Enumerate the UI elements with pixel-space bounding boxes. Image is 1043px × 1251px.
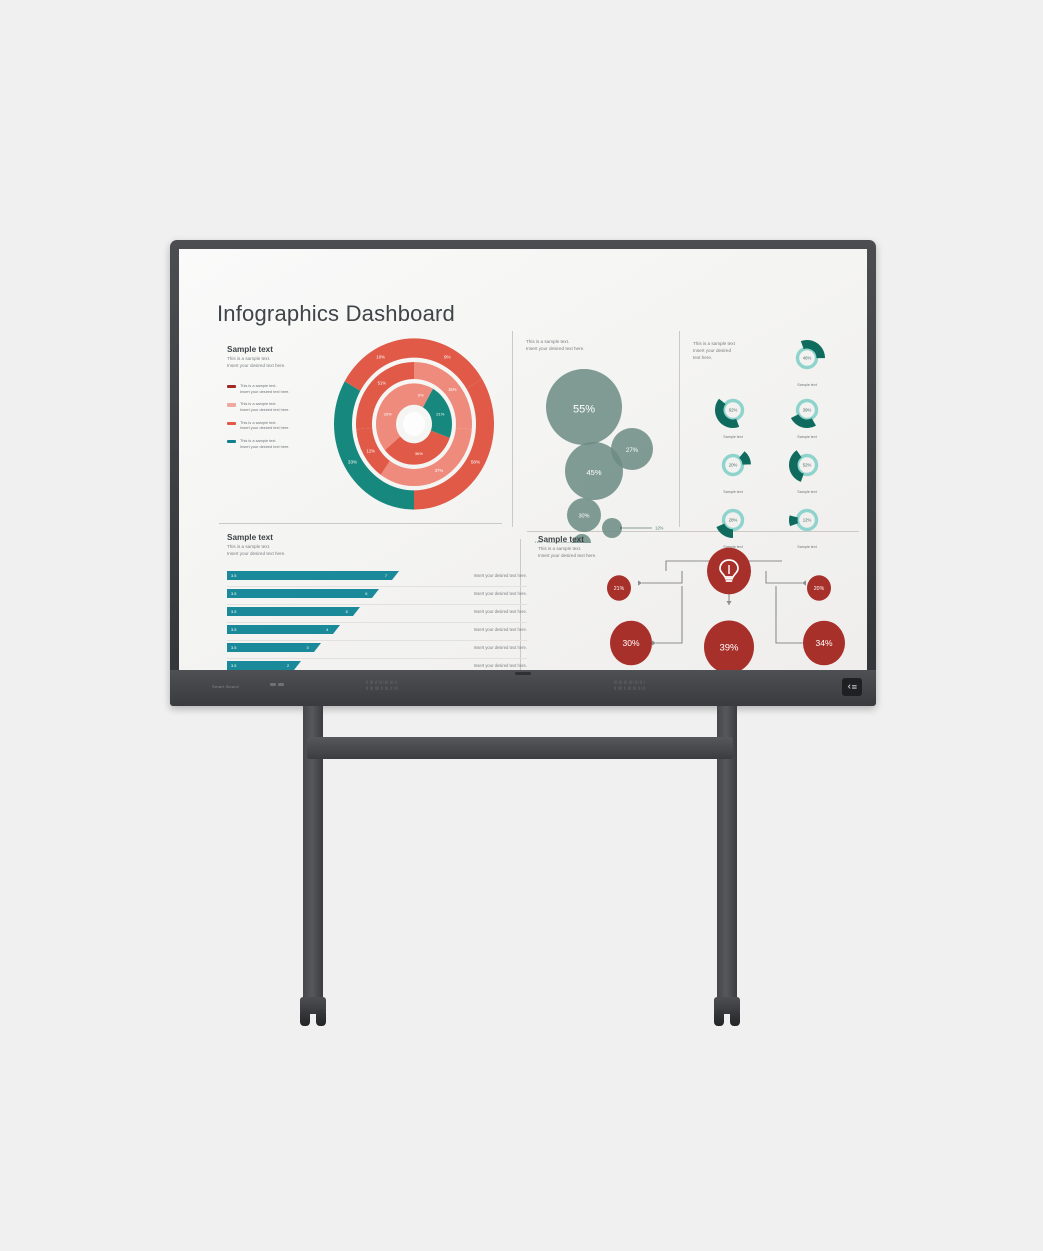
donut-inner-label: 33% xyxy=(384,411,392,416)
gauge-chart: 52% xyxy=(778,444,836,484)
bar-left-label: 3.5 xyxy=(231,573,236,578)
node-diagram-chart: 21%20%30%39%34% xyxy=(534,531,859,670)
gauge-item: 46%Sample text xyxy=(777,337,837,387)
bar-heading-group: Sample text This is a sample text. Inser… xyxy=(227,533,357,558)
donut-outer-label: 9% xyxy=(444,355,451,360)
bubble-chart-panel: This is a sample text. Insert your desir… xyxy=(524,337,684,547)
legend-line2: Insert your desired text here. xyxy=(240,389,290,394)
gauge-chart: 62% xyxy=(704,389,762,429)
legend-label: This is a sample text. Insert your desir… xyxy=(240,383,290,394)
bar: 3.52 xyxy=(227,661,294,670)
bar-row-note: Insert your desired text here. xyxy=(474,609,527,614)
bar-row: 3.53Insert your desired text here. xyxy=(227,641,527,659)
bar-row: 3.57Insert your desired text here. xyxy=(227,569,527,587)
bar-heading: Sample text xyxy=(227,533,357,542)
gauge-value-label: 62% xyxy=(729,408,738,413)
presentation-slide: Infographics Dashboard Sample text This … xyxy=(179,249,867,670)
callout-label: 12% xyxy=(655,526,664,531)
donut-center-hole xyxy=(403,412,425,436)
gauge-item: 52%Sample text xyxy=(777,444,837,494)
gauge-grid-panel: This is a sample text Insert your desire… xyxy=(689,337,859,549)
gauge-caption: Sample text xyxy=(777,435,837,439)
connector-line xyxy=(766,571,802,583)
bar-left-label: 3.5 xyxy=(231,609,236,614)
display-screen[interactable]: Infographics Dashboard Sample text This … xyxy=(179,249,867,670)
bubble-heading-group: This is a sample text. Insert your desir… xyxy=(526,339,646,353)
legend-line1: This is a sample text. xyxy=(240,383,277,388)
connector-line xyxy=(656,586,682,643)
donut-inner-label: 36% xyxy=(415,451,423,456)
legend-line2: Insert your desired text here. xyxy=(240,425,290,430)
bar-value-label: 5 xyxy=(346,609,348,614)
speaker-grille-left-icon: || ||| || ||| |||| ||| || || ||| |||| ||… xyxy=(366,680,398,690)
legend-swatch-icon xyxy=(227,403,236,406)
donut-middle-label: 12% xyxy=(367,448,376,453)
speaker-grille-right-icon: ||| ||| ||| |||| ||| || | || |||| || |||… xyxy=(614,680,645,690)
bar-value-label: 6 xyxy=(365,591,367,596)
node-label: 21% xyxy=(614,586,625,592)
bar-tip-icon xyxy=(392,571,399,580)
legend-line1: This is a sample text. xyxy=(240,401,277,406)
donut-middle-label: 37% xyxy=(435,468,444,473)
bar-row-list: 3.57Insert your desired text here.3.56In… xyxy=(227,569,527,670)
bar-tip-icon xyxy=(353,607,360,616)
gauge-wedge xyxy=(789,450,804,482)
bar-row-note: Insert your desired text here. xyxy=(474,591,527,596)
bar-value-label: 3 xyxy=(307,645,309,650)
bubble-label: 45% xyxy=(586,468,601,477)
camera-notch-icon xyxy=(515,672,531,675)
bar-tip-icon xyxy=(294,661,301,670)
bubble-sub-line1: This is a sample text. xyxy=(526,339,646,346)
connector-arrow-icon xyxy=(652,640,656,645)
connector-arrow-icon xyxy=(638,580,642,585)
bar-row: 3.52Insert your desired text here. xyxy=(227,659,527,670)
bar-tip-icon xyxy=(314,643,321,652)
donut-outer-label: 33% xyxy=(348,460,357,465)
bar-sub-line1: This is a sample text. xyxy=(227,544,357,551)
bar-row-note: Insert your desired text here. xyxy=(474,645,527,650)
gauge-chart: 46% xyxy=(778,337,836,377)
connector-arrow-icon xyxy=(726,601,731,605)
legend-swatch-icon xyxy=(227,385,236,388)
wheel-icon xyxy=(300,1009,310,1026)
donut-inner-label: 6% xyxy=(418,393,424,398)
bar: 3.57 xyxy=(227,571,392,580)
donut-sub-line2: Insert your desired text here. xyxy=(227,363,332,370)
connector-line xyxy=(642,571,682,583)
gauge-value-label: 52% xyxy=(803,463,812,468)
bar-left-label: 3.5 xyxy=(231,663,236,668)
page-title: Infographics Dashboard xyxy=(217,301,455,327)
connector-line xyxy=(666,561,712,571)
node-label: 34% xyxy=(815,638,832,648)
gauge-item: 20%Sample text xyxy=(703,444,763,494)
gauge-item: 39%Sample text xyxy=(777,389,837,439)
gauge-value-label: 20% xyxy=(729,463,738,468)
node-diagram-panel: Sample text This is a sample text. Inser… xyxy=(534,531,859,670)
donut-middle-label: 51% xyxy=(378,381,387,386)
gauge-sub-line3: text here. xyxy=(693,355,765,362)
bar-tip-icon xyxy=(372,589,379,598)
connector-arrow-icon xyxy=(802,580,806,585)
donut-heading: Sample text xyxy=(227,345,332,354)
gauge-value-label: 46% xyxy=(803,356,812,361)
legend-line1: This is a sample text. xyxy=(240,420,277,425)
gauge-sub-line2: Insert your desired xyxy=(693,348,765,355)
donut-outer-label: 58% xyxy=(471,460,480,465)
wheel-icon xyxy=(730,1009,740,1026)
connector-line xyxy=(776,586,802,643)
gauge-item: 62%Sample text xyxy=(703,389,763,439)
bar-value-label: 4 xyxy=(326,627,328,632)
bar: 3.53 xyxy=(227,643,314,652)
legend-label: This is a sample text. Insert your desir… xyxy=(240,401,290,412)
gauge-caption: Sample text xyxy=(777,383,837,387)
node-label: 20% xyxy=(814,586,825,592)
bar: 3.54 xyxy=(227,625,333,634)
bar-row: 3.56Insert your desired text here. xyxy=(227,587,527,605)
legend-swatch-icon xyxy=(227,422,236,425)
node-label: 39% xyxy=(719,642,739,653)
bubble-sub-line2: Insert your desired text here. xyxy=(526,346,646,353)
bubble-cluster-chart: 55%27%45%30%12%15%10% xyxy=(524,363,684,543)
display-chin: Smart Board || ||| || ||| |||| ||| || ||… xyxy=(170,670,876,706)
stand-foot-right xyxy=(714,997,740,1027)
power-icon xyxy=(847,682,858,693)
bar-value-label: 2 xyxy=(287,663,289,668)
bar: 3.55 xyxy=(227,607,353,616)
node-label: 30% xyxy=(622,638,639,648)
concentric-donut-chart: 9%58%33%10%15%37%12%51%6%21%36%33% xyxy=(319,337,509,512)
bubble-label: 30% xyxy=(578,513,589,519)
gauge-caption: Sample text xyxy=(703,490,763,494)
bubble-label: 27% xyxy=(626,448,639,454)
legend-line2: Insert your desired text here. xyxy=(240,407,290,412)
bar-chart-panel: Sample text This is a sample text. Inser… xyxy=(219,531,529,670)
stand-foot-left xyxy=(300,997,326,1027)
wheel-icon xyxy=(316,1009,326,1026)
donut-chart-panel: Sample text This is a sample text. Inser… xyxy=(219,337,519,507)
gauge-value-label: 12% xyxy=(803,518,812,523)
donut-sub-line1: This is a sample text. xyxy=(227,356,332,363)
legend-label: This is a sample text. Insert your desir… xyxy=(240,438,290,449)
gauge-chart: 20% xyxy=(704,444,762,484)
indicator-leds-icon xyxy=(270,683,284,686)
power-button[interactable] xyxy=(842,678,862,696)
gauge-value-label: 39% xyxy=(803,408,812,413)
bar-left-label: 3.5 xyxy=(231,627,236,632)
interactive-display: Infographics Dashboard Sample text This … xyxy=(170,240,876,706)
legend-line1: This is a sample text. xyxy=(240,438,277,443)
divider-horizontal-1 xyxy=(219,523,502,524)
donut-outer-label: 10% xyxy=(376,355,385,360)
bar-value-label: 7 xyxy=(385,573,387,578)
connector-line xyxy=(746,561,782,571)
grille-right-line2: || |||| || ||| ||| || ||| xyxy=(614,686,645,690)
bar-left-label: 3.5 xyxy=(231,645,236,650)
bar-row-note: Insert your desired text here. xyxy=(474,627,527,632)
gauge-sub-line1: This is a sample text xyxy=(693,341,765,348)
wheel-icon xyxy=(714,1009,724,1026)
bar-sub-line2: Insert your desired text here. xyxy=(227,551,357,558)
grille-right-line1: ||| ||| ||| |||| ||| || | xyxy=(614,680,645,684)
bar-row: 3.54Insert your desired text here. xyxy=(227,623,527,641)
bar-left-label: 3.5 xyxy=(231,591,236,596)
bar-row: 3.55Insert your desired text here. xyxy=(227,605,527,623)
gauge-caption: Sample text xyxy=(777,490,837,494)
donut-heading-group: Sample text This is a sample text. Inser… xyxy=(227,345,332,370)
gauge-value-label: 28% xyxy=(729,518,738,523)
bar: 3.56 xyxy=(227,589,372,598)
legend-label: This is a sample text. Insert your desir… xyxy=(240,420,290,431)
donut-middle-label: 15% xyxy=(448,387,457,392)
brand-label: Smart Board xyxy=(212,684,239,689)
gauge-chart: 39% xyxy=(778,389,836,429)
stand-crossbar xyxy=(307,737,733,759)
bar-tip-icon xyxy=(333,625,340,634)
bar-row-note: Insert your desired text here. xyxy=(474,663,527,668)
gauge-heading-group: This is a sample text Insert your desire… xyxy=(693,341,765,362)
bar-row-note: Insert your desired text here. xyxy=(474,573,527,578)
legend-line2: Insert your desired text here. xyxy=(240,444,290,449)
donut-inner-label: 21% xyxy=(436,411,444,416)
bubble-label: 55% xyxy=(573,403,595,415)
grille-left-line1: || ||| || ||| |||| ||| || xyxy=(366,680,398,684)
gauge-caption: Sample text xyxy=(703,435,763,439)
legend-swatch-icon xyxy=(227,440,236,443)
grille-left-line2: || ||| |||| || ||| || |||| xyxy=(366,686,398,690)
